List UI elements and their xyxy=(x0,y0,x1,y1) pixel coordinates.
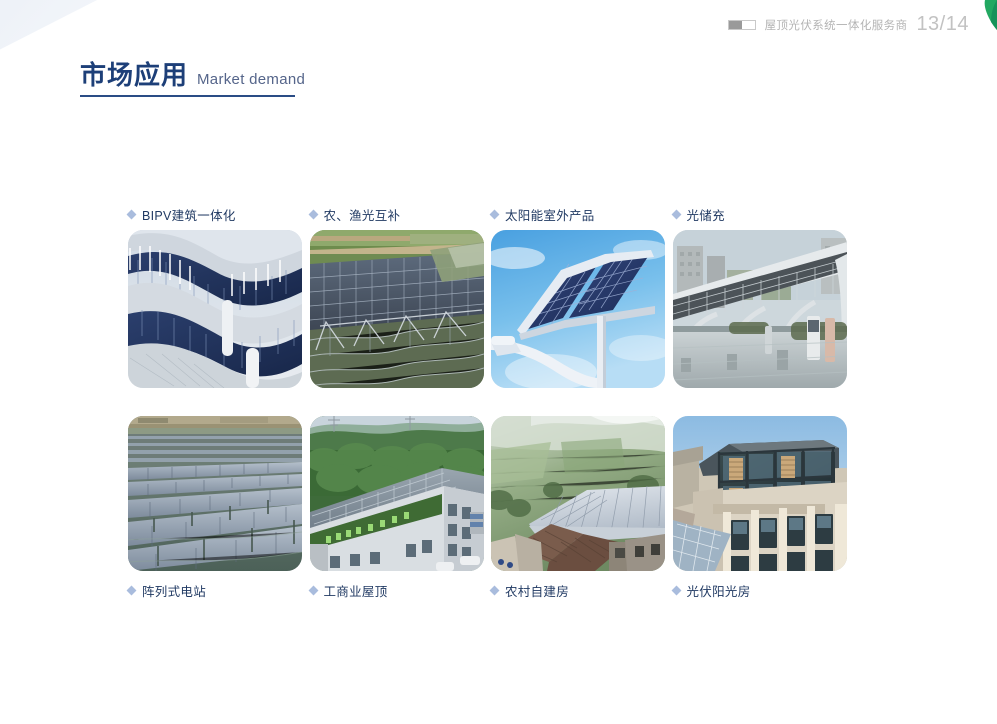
title-row: 市场应用 Market demand xyxy=(80,62,500,89)
gallery-cell[interactable]: 工商业屋顶 xyxy=(310,416,492,600)
diamond-bullet-icon xyxy=(308,209,318,219)
title-english: Market demand xyxy=(197,71,305,88)
cell-label: 农、渔光互补 xyxy=(310,204,492,224)
page-header: 屋顶光伏系统一体化服务商 13/14 xyxy=(728,13,969,36)
page-title: 市场应用 Market demand xyxy=(80,62,500,97)
title-underline xyxy=(80,95,295,97)
gallery-row-bottom: 阵列式电站 xyxy=(128,416,854,600)
gallery-cell[interactable]: 农、渔光互补 xyxy=(310,204,492,388)
corner-band-light xyxy=(0,0,300,67)
solar-carport-ev-charging-image[interactable] xyxy=(673,230,847,388)
cell-label-text: 阵列式电站 xyxy=(142,581,206,600)
cell-label-text: 工商业屋顶 xyxy=(324,581,388,600)
cell-label-text: 农、渔光互补 xyxy=(324,205,401,224)
agrivoltaic-greenhouse-array-image[interactable] xyxy=(310,230,484,388)
bipv-curved-building-facade-image[interactable] xyxy=(128,230,302,388)
gallery-cell[interactable]: 农村自建房 xyxy=(491,416,673,600)
cell-label: 光伏阳光房 xyxy=(673,580,855,600)
diamond-bullet-icon xyxy=(671,585,681,595)
cell-label: 农村自建房 xyxy=(491,580,673,600)
diamond-bullet-icon xyxy=(127,585,137,595)
rural-house-rooftop-solar-image[interactable] xyxy=(491,416,665,571)
diamond-bullet-icon xyxy=(127,209,137,219)
commercial-industrial-rooftop-image[interactable] xyxy=(310,416,484,571)
cell-label: 阵列式电站 xyxy=(128,580,310,600)
progress-bar-icon xyxy=(728,20,756,30)
corner-band-dark xyxy=(0,0,279,11)
cell-label-text: 光伏阳光房 xyxy=(687,581,751,600)
cell-label: 工商业屋顶 xyxy=(310,580,492,600)
diamond-bullet-icon xyxy=(490,585,500,595)
diamond-bullet-icon xyxy=(308,585,318,595)
header-tagline: 屋顶光伏系统一体化服务商 xyxy=(765,17,908,33)
title-chinese: 市场应用 xyxy=(80,62,188,89)
gallery-cell[interactable]: BIPV建筑一体化 xyxy=(128,204,310,388)
solar-street-light-panels-image[interactable] xyxy=(491,230,665,388)
gallery-cell[interactable]: 阵列式电站 xyxy=(128,416,310,600)
gallery-row-top: BIPV建筑一体化 xyxy=(128,204,854,388)
pv-sunroom-conservatory-image[interactable] xyxy=(673,416,847,571)
array-power-station-over-water-image[interactable] xyxy=(128,416,302,571)
cell-label: 太阳能室外产品 xyxy=(491,204,673,224)
cell-label: BIPV建筑一体化 xyxy=(128,204,310,224)
cell-label: 光储充 xyxy=(673,204,855,224)
diamond-bullet-icon xyxy=(490,209,500,219)
page-number: 13/14 xyxy=(916,13,969,36)
cell-label-text: 光储充 xyxy=(687,205,725,224)
market-application-gallery: BIPV建筑一体化 xyxy=(128,204,854,600)
cell-label-text: 太阳能室外产品 xyxy=(505,205,595,224)
cell-label-text: 农村自建房 xyxy=(505,581,569,600)
gallery-cell[interactable]: 光伏阳光房 xyxy=(673,416,855,600)
cell-label-text: BIPV建筑一体化 xyxy=(142,205,236,224)
gallery-cell[interactable]: 光储充 xyxy=(673,204,855,388)
diamond-bullet-icon xyxy=(671,209,681,219)
gallery-cell[interactable]: 太阳能室外产品 xyxy=(491,204,673,388)
